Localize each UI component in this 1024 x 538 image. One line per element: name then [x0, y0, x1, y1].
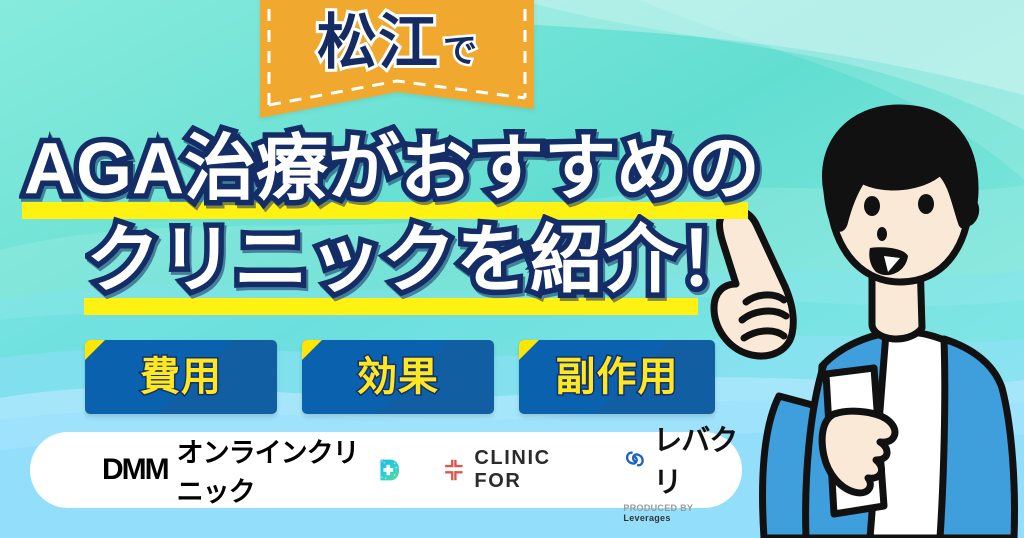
- corner-triangle-icon: [85, 340, 105, 360]
- link-loop-icon: [623, 446, 647, 472]
- headline-line-1: AGA治療がおすすめの: [0, 133, 760, 205]
- badge-effect-label: 効果: [357, 357, 439, 397]
- dmm-online-clinic-logo[interactable]: DMM オンラインクリニック: [102, 431, 400, 509]
- badge-side-effects[interactable]: 副作用: [519, 340, 715, 414]
- corner-triangle-icon: [302, 340, 322, 360]
- topic-badge-group: 費用 効果 副作用: [85, 340, 715, 414]
- red-cross-icon: [442, 455, 466, 485]
- clinic-for-text: CLINIC FOR: [474, 447, 577, 493]
- levacli-tagline-prefix: PRODUCED BY: [623, 503, 693, 513]
- clinic-for-logo[interactable]: CLINIC FOR: [442, 447, 578, 493]
- ribbon-particle: で: [443, 34, 477, 68]
- headline-block: AGA治療がおすすめの クリニックを紹介！: [0, 133, 760, 319]
- partner-logo-bar: DMM オンラインクリニック: [30, 432, 742, 508]
- headline-line-2: クリニックを紹介！: [0, 223, 760, 297]
- badge-effect[interactable]: 効果: [302, 340, 494, 414]
- location-ribbon: 松江 で: [258, 0, 536, 119]
- badge-cost[interactable]: 費用: [85, 340, 277, 414]
- levacli-tagline-brand: Leverages: [623, 513, 670, 523]
- badge-cost-label: 費用: [140, 357, 222, 397]
- headline-line-1-row: AGA治療がおすすめの: [0, 133, 760, 223]
- ribbon-text-group: 松江 で: [258, 0, 536, 106]
- headline-line-2-row: クリニックを紹介！: [0, 223, 760, 319]
- ribbon-location-name: 松江: [317, 13, 439, 73]
- dmm-brand-text: DMM: [102, 453, 168, 487]
- aga-clinic-promo-banner: 松江 で AGA治療がおすすめの クリニックを紹介！ 費用 効果 副作用: [0, 0, 1024, 538]
- badge-side-effects-label: 副作用: [556, 357, 679, 397]
- corner-triangle-icon: [519, 340, 539, 360]
- dmm-d-logo-icon: [379, 454, 400, 486]
- dmm-service-text: オンラインクリニック: [177, 431, 370, 509]
